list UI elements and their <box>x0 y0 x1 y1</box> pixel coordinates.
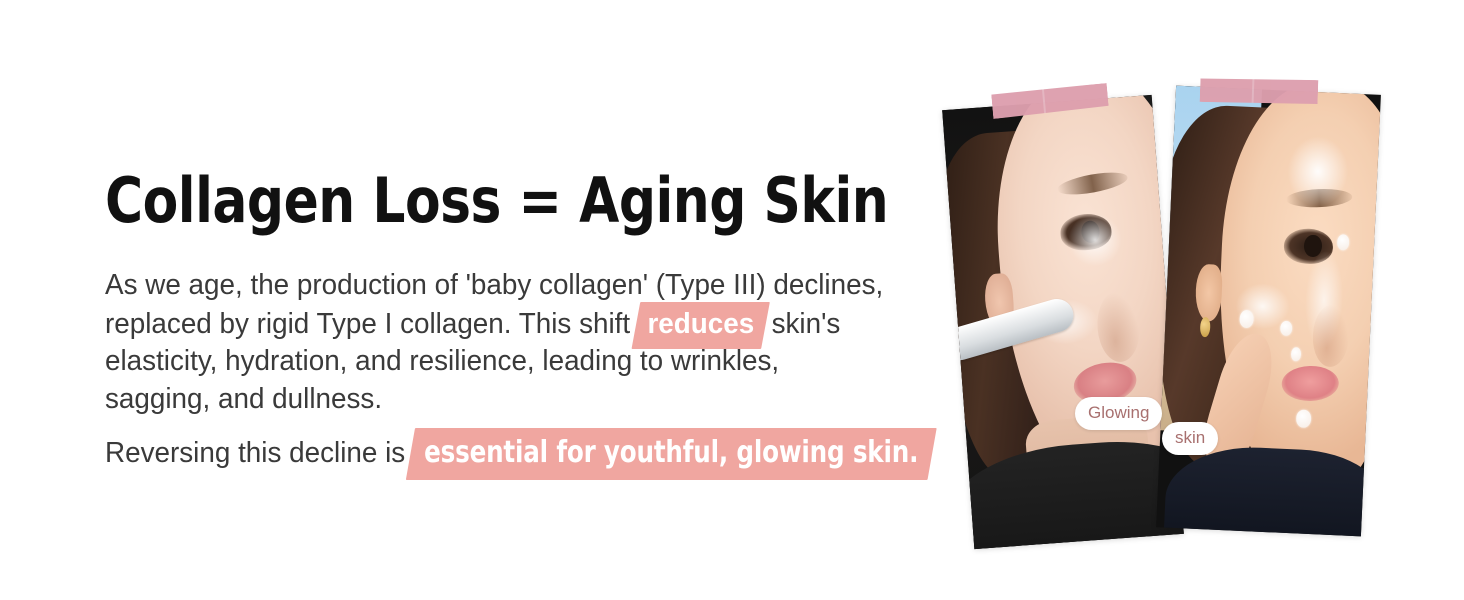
highlight-reduces: reduces <box>638 304 764 345</box>
photo-right-glowing-skin <box>1156 86 1381 537</box>
text-column: Collagen Loss = Aging Skin As we age, th… <box>105 170 965 476</box>
banner-root: Collagen Loss = Aging Skin As we age, th… <box>0 0 1464 600</box>
sticker-label-glowing: Glowing <box>1075 397 1162 430</box>
body-line-2-prefix: replaced by rigid Type I collagen. This … <box>105 308 638 340</box>
body-line-2: replaced by rigid Type I collagen. This … <box>105 304 931 342</box>
body-line-5-prefix: Reversing this decline is <box>105 437 413 469</box>
body-copy: As we age, the production of 'baby colla… <box>105 266 931 476</box>
cream-dot <box>1296 410 1311 428</box>
body-line-2-suffix: skin's <box>764 308 840 340</box>
photo-collage: Glowing skin <box>930 60 1430 580</box>
sticker-label-skin: skin <box>1162 422 1218 455</box>
body-line-3: elasticity, hydration, and resilience, l… <box>105 342 931 380</box>
photo-left-scene <box>942 95 1184 549</box>
body-line-5: Reversing this decline is essential for … <box>105 428 931 476</box>
body-line-4: sagging, and dullness. <box>105 380 931 418</box>
body-line-1: As we age, the production of 'baby colla… <box>105 266 931 304</box>
photo-left-skincare-applicator <box>942 95 1184 549</box>
page-title: Collagen Loss = Aging Skin <box>105 170 905 232</box>
highlight-essential-statement: essential for youthful, glowing skin. <box>413 428 929 480</box>
washi-tape-right-icon <box>1200 76 1319 106</box>
